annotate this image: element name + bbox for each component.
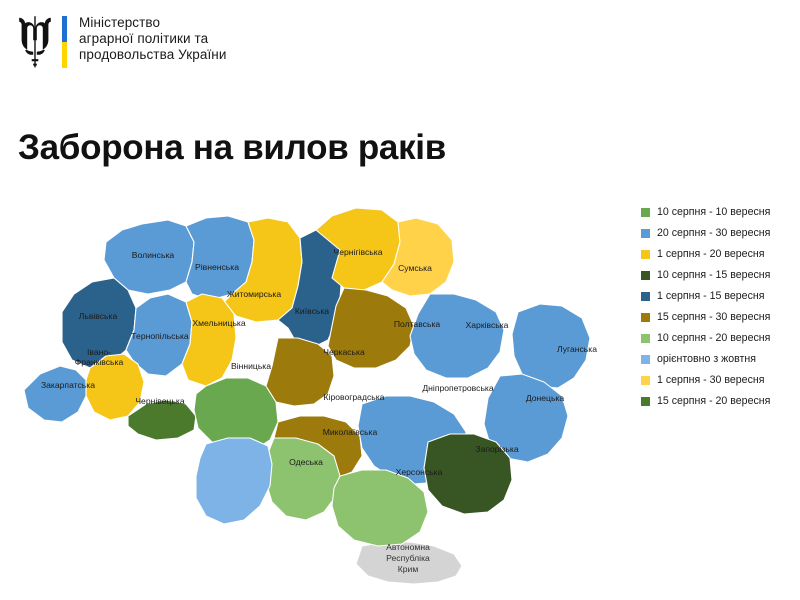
map-regions-layer	[24, 208, 590, 584]
legend-item-0: 10 серпня - 10 вересня	[641, 202, 770, 223]
ukraine-trident-emblem	[14, 14, 56, 70]
legend-item-3: 10 серпня - 15 вересня	[641, 265, 770, 286]
legend-item-label: 10 серпня - 20 вересня	[657, 333, 770, 344]
region-label-Львівська: Львівська	[79, 311, 118, 321]
ministry-header: Міністерство аграрної політики та продов…	[14, 14, 227, 70]
legend-item-7: орієнтовно з жовтня	[641, 349, 770, 370]
region-label-Черкаська: Черкаська	[323, 347, 365, 357]
legend-item-label: 1 серпня - 20 вересня	[657, 249, 764, 260]
legend-item-label: орієнтовно з жовтня	[657, 354, 756, 365]
legend-item-label: 20 серпня - 30 вересня	[657, 228, 770, 239]
legend-item-1: 20 серпня - 30 вересня	[641, 223, 770, 244]
region-Закарпатська[interactable]	[24, 366, 86, 422]
region-label-Чернігівська: Чернігівська	[334, 247, 383, 257]
region-label-Чернівецька: Чернівецька	[135, 396, 185, 406]
legend-color-swatch	[641, 397, 650, 406]
map-legend: 10 серпня - 10 вересня 20 серпня - 30 ве…	[641, 202, 770, 412]
legend-item-8: 1 серпня - 30 вересня	[641, 370, 770, 391]
region-label-Тернопільська: Тернопільська	[131, 331, 189, 341]
legend-item-label: 15 серпня - 20 вересня	[657, 396, 770, 407]
legend-color-swatch	[641, 292, 650, 301]
legend-color-swatch	[641, 271, 650, 280]
legend-item-5: 15 серпня - 30 вересня	[641, 307, 770, 328]
region-label-Хмельницька: Хмельницька	[192, 318, 246, 328]
map-svg: ВолинськаРівненськаЖитомирськаКиївськаЧе…	[10, 190, 630, 590]
legend-color-swatch	[641, 229, 650, 238]
region-label-Херсонська: Херсонська	[396, 467, 443, 477]
region-label-Волинська: Волинська	[132, 250, 175, 260]
region-label-Донецька: Донецька	[526, 393, 565, 403]
legend-item-label: 15 серпня - 30 вересня	[657, 312, 770, 323]
region-label-Кіровоградська: Кіровоградська	[324, 392, 385, 402]
region-Харківська[interactable]	[410, 294, 504, 378]
region-label-Київська: Київська	[295, 306, 329, 316]
legend-item-label: 1 серпня - 30 вересня	[657, 375, 764, 386]
ministry-name: Міністерство аграрної політики та продов…	[79, 15, 227, 63]
legend-color-swatch	[641, 355, 650, 364]
legend-color-swatch	[641, 313, 650, 322]
region-Одеська[interactable]	[196, 438, 272, 524]
region-label-Житомирська: Житомирська	[227, 289, 282, 299]
region-label-Сумська: Сумська	[398, 263, 432, 273]
region-label-Закарпатська: Закарпатська	[41, 380, 95, 390]
region-label-Харківська: Харківська	[466, 320, 509, 330]
region-label-Луганська: Луганська	[557, 344, 597, 354]
region-label-Одеська: Одеська	[289, 457, 323, 467]
legend-color-swatch	[641, 376, 650, 385]
legend-color-swatch	[641, 334, 650, 343]
region-label-Рівненська: Рівненська	[195, 262, 239, 272]
region-label-Вінницька: Вінницька	[231, 361, 271, 371]
legend-item-6: 10 серпня - 20 вересня	[641, 328, 770, 349]
region-label-Полтавська: Полтавська	[394, 319, 441, 329]
region-Хмельницька[interactable]	[182, 294, 236, 386]
page-title: Заборона на вилов раків	[18, 128, 446, 168]
legend-color-swatch	[641, 250, 650, 259]
legend-item-label: 10 серпня - 10 вересня	[657, 207, 770, 218]
region-label-Запорізька: Запорізька	[475, 444, 518, 454]
ukraine-flag-accent-bar	[62, 16, 67, 68]
legend-item-4: 1 серпня - 15 вересня	[641, 286, 770, 307]
legend-color-swatch	[641, 208, 650, 217]
region-label-Миколаївська: Миколаївська	[323, 427, 378, 437]
legend-item-9: 15 серпня - 20 вересня	[641, 391, 770, 412]
region-label-Дніпропетровська: Дніпропетровська	[422, 383, 494, 393]
ukraine-choropleth-map: ВолинськаРівненськаЖитомирськаКиївськаЧе…	[10, 190, 630, 590]
legend-item-label: 1 серпня - 15 вересня	[657, 291, 764, 302]
legend-item-label: 10 серпня - 15 вересня	[657, 270, 770, 281]
legend-item-2: 1 серпня - 20 вересня	[641, 244, 770, 265]
